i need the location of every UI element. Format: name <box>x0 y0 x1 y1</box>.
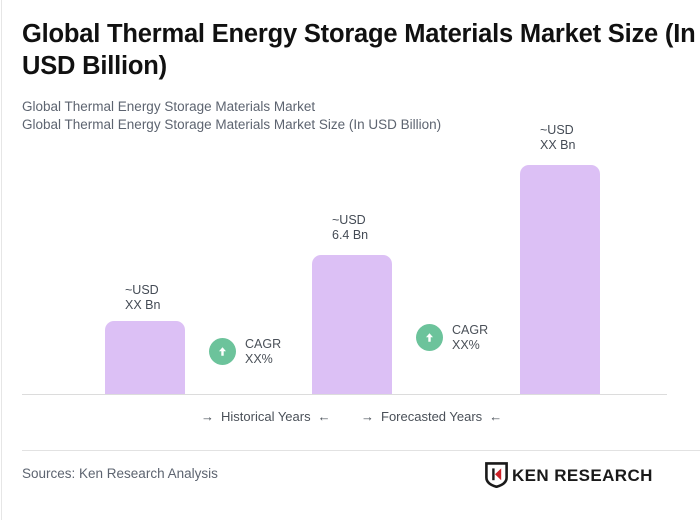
axis-label-historical-text: Historical Years <box>221 409 311 424</box>
axis-label-historical: →Historical Years← <box>201 409 331 424</box>
bar-forecasted[interactable] <box>520 165 600 395</box>
axis-baseline <box>22 394 667 395</box>
cagr-badge-1-line-1: CAGR <box>245 337 281 352</box>
ken-research-logo: KEN RESEARCH <box>485 462 653 488</box>
bar-label-mid-line-2: 6.4 Bn <box>332 228 368 243</box>
bar-label-mid-line-1: ~USD <box>332 213 368 228</box>
bar-mid[interactable] <box>312 255 392 395</box>
arrow-up-icon <box>416 324 443 351</box>
cagr-badge-1-line-2: XX% <box>245 352 281 367</box>
bar-label-historical-line-1: ~USD <box>125 283 160 298</box>
arrow-left-icon: ← <box>318 409 331 424</box>
bar-label-mid: ~USD 6.4 Bn <box>332 213 368 242</box>
sources-text: Sources: Ken Research Analysis <box>22 466 218 481</box>
ken-research-wordmark: KEN RESEARCH <box>512 467 653 484</box>
cagr-badge-1[interactable]: CAGR XX% <box>209 337 281 366</box>
axis-label-forecasted-text: Forecasted Years <box>381 409 482 424</box>
cagr-badge-1-text: CAGR XX% <box>245 337 281 366</box>
arrow-up-icon <box>209 338 236 365</box>
page-title: Global Thermal Energy Storage Materials … <box>22 18 700 82</box>
bar-label-historical: ~USD XX Bn <box>125 283 160 312</box>
footer-divider <box>22 450 700 451</box>
ken-research-shield-icon <box>485 462 508 488</box>
chart-subtitle-line-1: Global Thermal Energy Storage Materials … <box>22 98 662 116</box>
bar-historical[interactable] <box>105 321 185 395</box>
chart-card: Global Thermal Energy Storage Materials … <box>1 0 700 520</box>
arrow-right-icon: → <box>201 409 214 424</box>
arrow-right-icon: → <box>361 409 374 424</box>
cagr-badge-2[interactable]: CAGR XX% <box>416 323 488 352</box>
bar-label-forecasted: ~USD XX Bn <box>540 123 575 152</box>
cagr-badge-2-line-1: CAGR <box>452 323 488 338</box>
axis-label-forecasted: →Forecasted Years← <box>361 409 502 424</box>
cagr-badge-2-text: CAGR XX% <box>452 323 488 352</box>
arrow-left-icon: ← <box>489 409 502 424</box>
bar-label-forecasted-line-1: ~USD <box>540 123 575 138</box>
bar-label-historical-line-2: XX Bn <box>125 298 160 313</box>
plot-area: ~USD XX Bn CAGR XX% ~USD 6.4 Bn <box>22 120 700 395</box>
bar-label-forecasted-line-2: XX Bn <box>540 138 575 153</box>
cagr-badge-2-line-2: XX% <box>452 338 488 353</box>
